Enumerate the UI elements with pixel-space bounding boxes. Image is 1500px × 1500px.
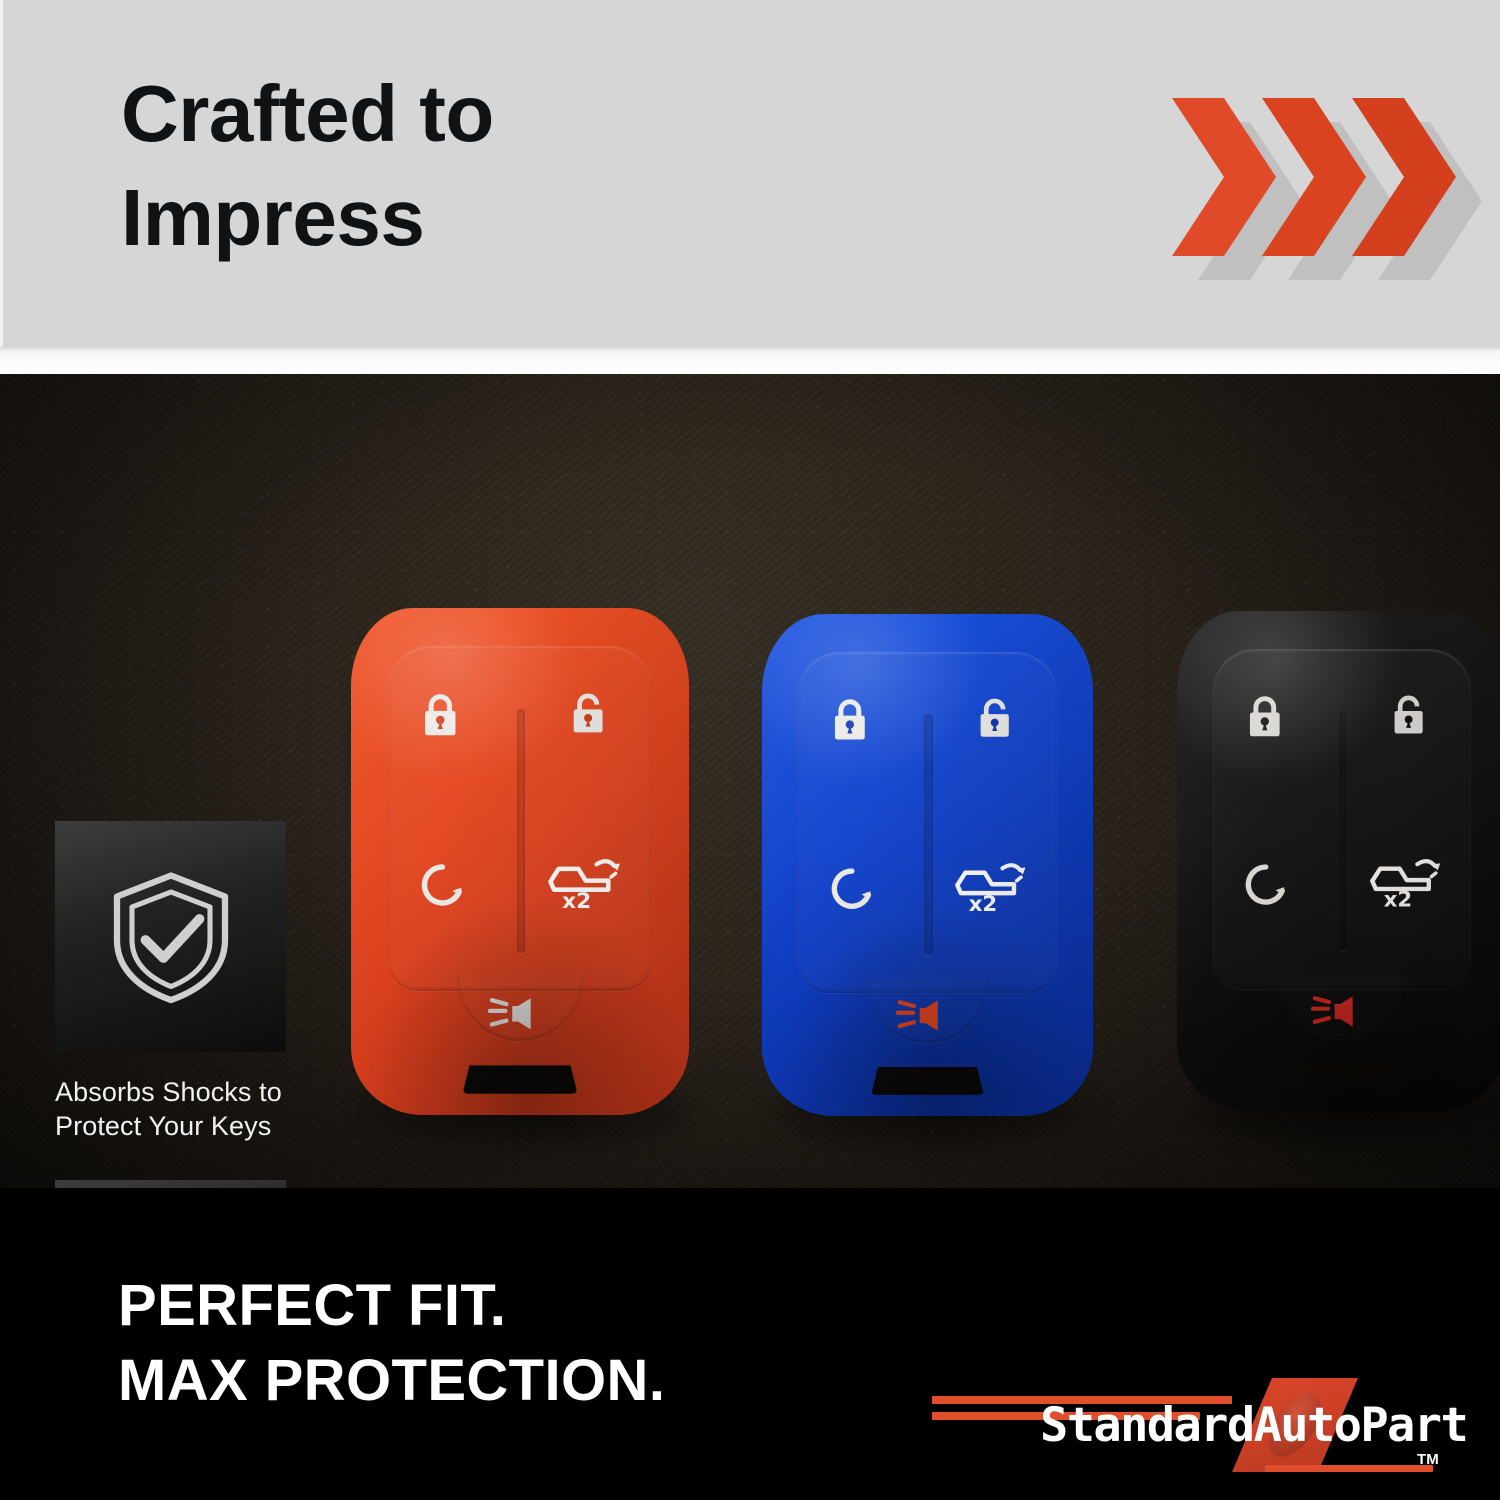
panic-horn-icon[interactable] [896,993,947,1038]
feature-icon-tile [55,821,286,1052]
lock-icon[interactable] [830,687,870,752]
product-marketing-image: Crafted to Impress [0,0,1500,1500]
lock-icon[interactable] [420,682,461,748]
page-title: Crafted to Impress [121,62,881,270]
panic-horn-icon[interactable] [1311,989,1362,1034]
header-divider [0,347,1500,374]
chevron-group [1158,78,1478,298]
fob-center-rib [924,714,933,955]
remote-start-icon[interactable] [827,855,877,920]
unlock-icon[interactable] [1388,681,1429,749]
fob-body: x2 [1177,611,1500,1111]
key-fob-cover-black[interactable]: x2 [1177,611,1500,1111]
tailgate-icon[interactable]: x2 [952,845,1028,925]
brand-name: StandardAutoPart [1040,1398,1467,1453]
keyring-slot [1286,1062,1398,1090]
feature-badge-lightweight: Lightweight Cover, Heavy-duty Protection [55,1180,323,1188]
fob-center-rib [517,709,526,952]
svg-text:x2: x2 [562,889,591,914]
unlock-icon[interactable] [567,679,609,747]
svg-text:x2: x2 [969,892,997,917]
unlock-icon[interactable] [974,684,1015,752]
fob-body: x2 [351,608,689,1115]
panic-horn-icon[interactable] [488,991,540,1037]
keyring-slot [871,1067,984,1095]
lock-icon[interactable] [1245,684,1285,749]
keyring-slot [463,1065,578,1093]
key-fob-cover-orange[interactable]: x2 [351,608,689,1115]
brand-logo: StandardAutoPart TM [932,1374,1437,1480]
shield-check-icon [96,862,246,1012]
feature-badge-shock-absorption: Absorbs Shocks to Protect Your Keys [55,821,286,1143]
header-banner: Crafted to Impress [0,0,1500,347]
remote-start-icon[interactable] [417,851,468,917]
footer-tagline: PERFECT FIT. MAX PROTECTION. [118,1268,665,1419]
key-fob-cover-blue[interactable]: x2 [762,614,1093,1116]
fob-center-rib [1339,711,1348,951]
chevron-right-icon [1338,78,1456,276]
fob-body: x2 [762,614,1093,1116]
product-photo-panel: Absorbs Shocks to Protect Your Keys Ligh… [0,374,1500,1188]
remote-start-icon[interactable] [1241,851,1291,916]
logo-underbar [1265,1465,1433,1472]
trademark-symbol: TM [1417,1451,1439,1468]
svg-text:x2: x2 [1383,887,1411,912]
feature-caption: Absorbs Shocks to Protect Your Keys [55,1075,286,1143]
tailgate-icon[interactable]: x2 [545,841,623,922]
feature-icon-tile [55,1180,286,1188]
tailgate-icon[interactable]: x2 [1367,841,1443,921]
